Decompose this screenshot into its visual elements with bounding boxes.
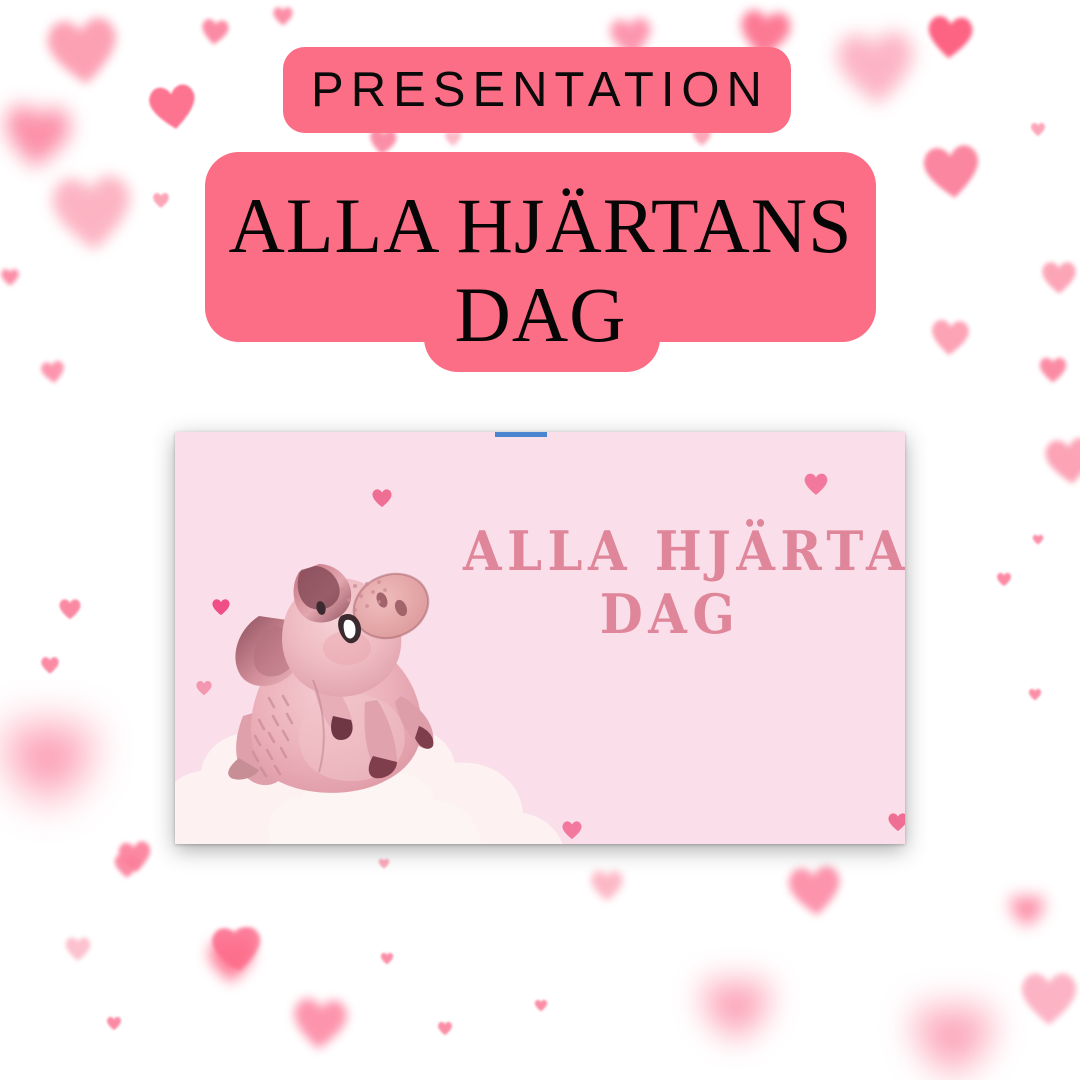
heart-8-icon bbox=[272, 6, 294, 26]
heart-29-icon bbox=[64, 936, 92, 962]
heart-14-icon bbox=[830, 25, 921, 110]
presentation-eyebrow-badge: PRESENTATION bbox=[283, 47, 791, 133]
heart-41-icon bbox=[784, 862, 846, 920]
slide-title-line-1: ALLA HJÄRTANS bbox=[463, 520, 877, 583]
heart-35-icon bbox=[437, 1021, 453, 1036]
heart-45-icon bbox=[1028, 688, 1042, 701]
heart-20-icon bbox=[928, 317, 973, 358]
heart-27-icon bbox=[115, 838, 154, 875]
heart-21-icon bbox=[1041, 433, 1080, 488]
heart-38-icon bbox=[589, 869, 625, 902]
slide-heart-left-mid bbox=[211, 598, 231, 616]
heart-28-icon bbox=[113, 853, 141, 879]
heart-39-icon bbox=[534, 999, 548, 1012]
presentation-eyebrow-label: PRESENTATION bbox=[305, 66, 769, 115]
heart-32-icon bbox=[288, 994, 352, 1053]
heart-2-icon bbox=[199, 17, 232, 48]
slide-accent-bar bbox=[495, 432, 547, 437]
slide-title: ALLA HJÄRTANS DAG bbox=[445, 520, 895, 645]
heart-48-icon bbox=[0, 268, 20, 286]
heart-4-icon bbox=[0, 99, 77, 173]
slide-canvas: ALLA HJÄRTANS DAG bbox=[175, 432, 905, 844]
slide-heart-title-left bbox=[371, 488, 393, 508]
slide-preview-frame[interactable]: ALLA HJÄRTANS DAG bbox=[160, 420, 920, 858]
heart-19-icon bbox=[1038, 356, 1068, 384]
heart-1-icon bbox=[40, 11, 125, 91]
heart-23-icon bbox=[38, 358, 67, 385]
heart-16-icon bbox=[918, 140, 986, 203]
heart-31-icon bbox=[210, 923, 265, 974]
heart-37-icon bbox=[378, 858, 390, 869]
heart-47-icon bbox=[1032, 534, 1044, 545]
heart-15-icon bbox=[923, 12, 976, 61]
heart-6-icon bbox=[152, 192, 170, 209]
slide-heart-bottom-right bbox=[887, 812, 905, 832]
heart-18-icon bbox=[1040, 260, 1078, 295]
heart-34-icon bbox=[380, 952, 394, 965]
heart-26-icon bbox=[0, 718, 96, 806]
slide-heart-cloud-left bbox=[195, 680, 213, 696]
heart-33-icon bbox=[209, 924, 258, 969]
title-badge-upper bbox=[205, 152, 876, 342]
heart-5-icon bbox=[45, 169, 138, 256]
heart-24-icon bbox=[58, 598, 82, 620]
heart-44-icon bbox=[1018, 970, 1080, 1027]
heart-25-icon bbox=[40, 656, 60, 674]
heart-30-icon bbox=[106, 1016, 122, 1031]
heart-43-icon bbox=[1008, 893, 1046, 928]
heart-22-icon bbox=[996, 572, 1012, 587]
slide-title-line-2: DAG bbox=[463, 583, 877, 646]
pig-illustration bbox=[215, 520, 505, 820]
poster-canvas: PRESENTATION ALLA HJÄRTANS DAG bbox=[0, 0, 1080, 1080]
heart-40-icon bbox=[699, 975, 773, 1043]
slide-heart-bottom-mid bbox=[561, 820, 583, 840]
slide-heart-top-right bbox=[803, 472, 829, 496]
heart-42-icon bbox=[910, 1000, 996, 1079]
heart-36-icon bbox=[206, 938, 256, 984]
heart-3-icon bbox=[144, 80, 202, 135]
heart-17-icon bbox=[1030, 122, 1046, 137]
